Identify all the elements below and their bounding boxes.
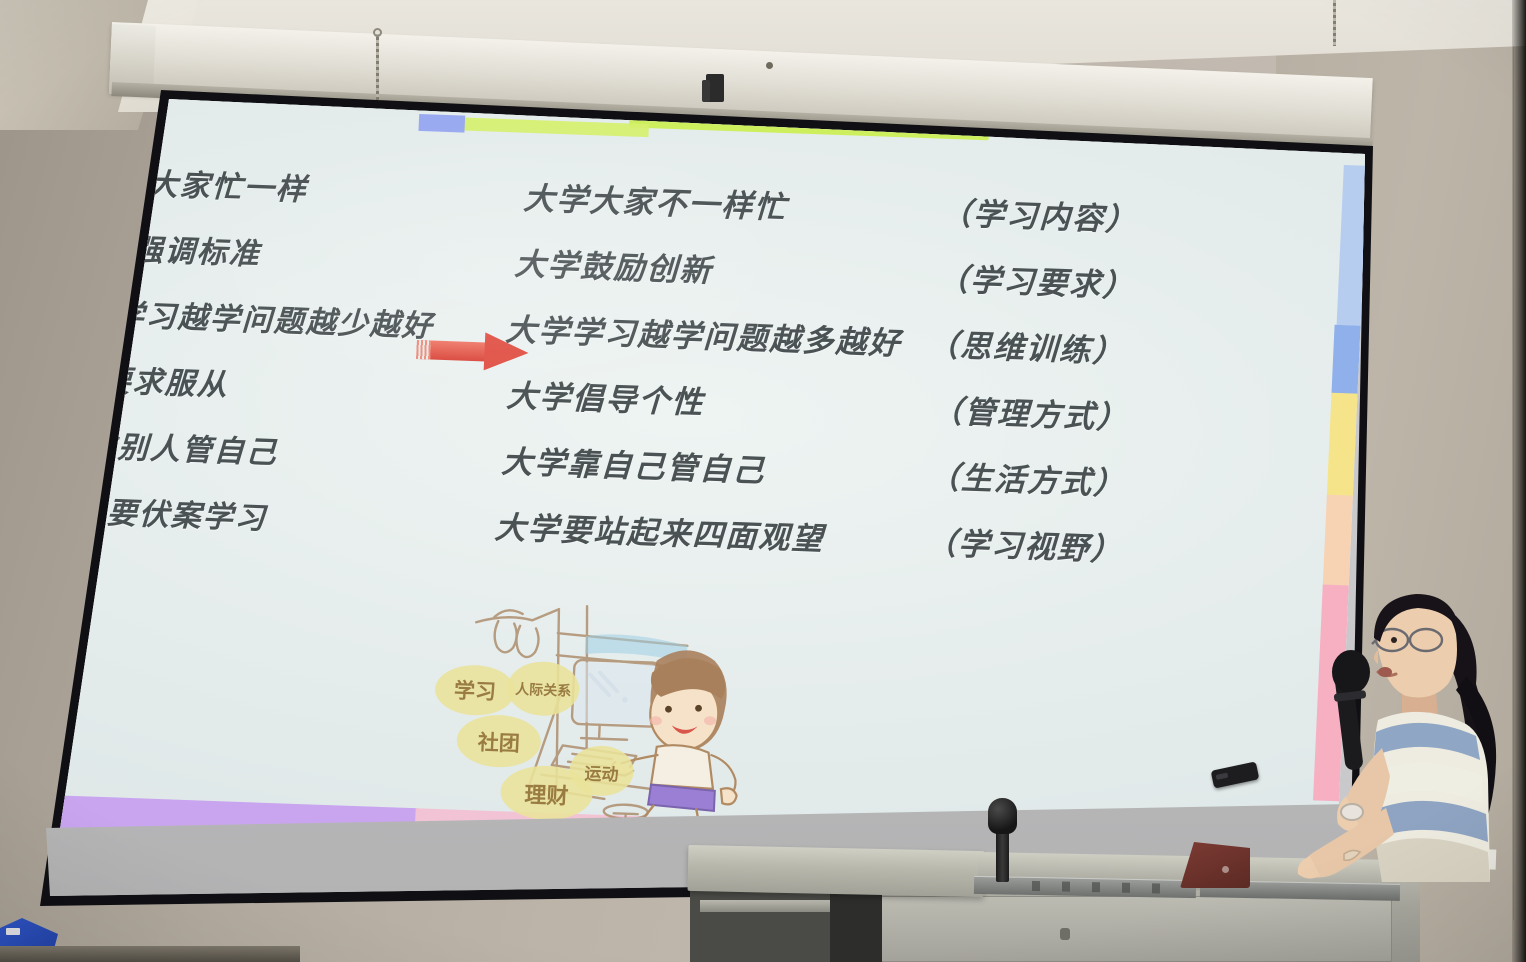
wristwatch bbox=[1341, 804, 1363, 820]
floor-edge bbox=[0, 946, 300, 962]
podium-gap bbox=[830, 892, 882, 962]
desk-microphone-head bbox=[988, 798, 1017, 834]
podium-lock bbox=[1060, 928, 1070, 940]
striped-shirt bbox=[1374, 712, 1491, 882]
podium-top-surface bbox=[688, 845, 985, 897]
presenter bbox=[1290, 580, 1520, 962]
wall-bracket bbox=[706, 74, 724, 102]
category-label: （学习视野） bbox=[924, 517, 1186, 571]
university-text: 大学大家不一样忙 bbox=[523, 172, 945, 232]
frame-vignette-right bbox=[1512, 0, 1526, 962]
bubble-label: 社团 bbox=[476, 729, 520, 756]
bubble-label: 学习 bbox=[454, 678, 497, 704]
illustration-boy-at-computer: 学习 人际关系 社团 理财 运动 bbox=[426, 593, 767, 855]
category-label: （生活方式） bbox=[927, 451, 1189, 505]
podium-drawer bbox=[700, 900, 830, 912]
bubble-label: 运动 bbox=[584, 764, 619, 785]
university-text: 大学靠自己管自己 bbox=[501, 436, 923, 496]
chain-hook-left bbox=[373, 28, 382, 37]
arrow-head bbox=[484, 332, 530, 372]
bubble-label: 理财 bbox=[524, 782, 569, 810]
right-arrow-icon bbox=[416, 330, 530, 372]
category-label: （学习要求） bbox=[936, 253, 1198, 307]
slide: 中学大家忙一样 大学大家不一样忙 （学习内容） 中学强调标准 大学鼓励创新 （学… bbox=[0, 88, 1369, 895]
category-label: （学习内容） bbox=[939, 187, 1201, 241]
arrow-stripes bbox=[416, 340, 431, 359]
comparison-table: 中学大家忙一样 大学大家不一样忙 （学习内容） 中学强调标准 大学鼓励创新 （学… bbox=[6, 144, 1367, 661]
university-text: 大学要站起来四面观望 bbox=[494, 501, 916, 561]
category-label: （思维训练） bbox=[926, 319, 1188, 373]
bubble-label: 人际关系 bbox=[515, 681, 572, 700]
category-label: （管理方式） bbox=[930, 385, 1192, 439]
bag-tag bbox=[6, 928, 20, 935]
university-text: 大学鼓励创新 bbox=[514, 238, 936, 298]
illustration-svg: 学习 人际关系 社团 理财 运动 bbox=[426, 593, 767, 855]
hanging-chain-right bbox=[1333, 0, 1336, 46]
university-text: 大学学习越学问题越多越好 bbox=[505, 304, 927, 364]
microphone-icon bbox=[1332, 650, 1370, 771]
projected-slide-area: 中学大家忙一样 大学大家不一样忙 （学习内容） 中学强调标准 大学鼓励创新 （学… bbox=[30, 88, 1383, 908]
presenter-svg bbox=[1290, 580, 1520, 962]
chair-knob bbox=[1222, 866, 1229, 873]
decor-bar-top-blue bbox=[418, 114, 465, 133]
classroom-scene: 中学大家忙一样 大学大家不一样忙 （学习内容） 中学强调标准 大学鼓励创新 （学… bbox=[0, 0, 1526, 962]
wall-screw bbox=[766, 62, 773, 69]
university-text: 大学倡导个性 bbox=[506, 370, 928, 430]
